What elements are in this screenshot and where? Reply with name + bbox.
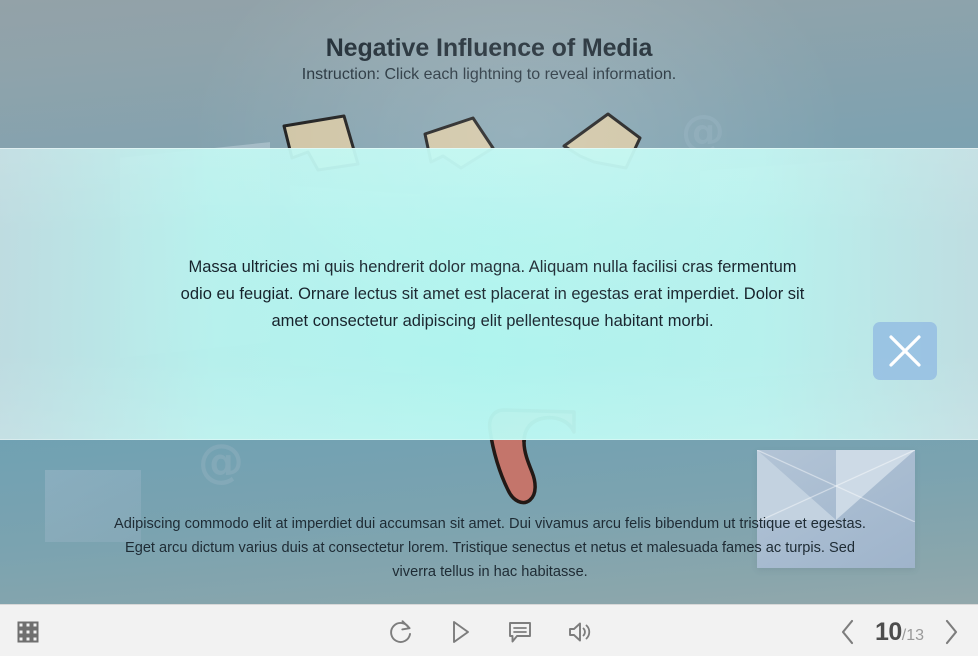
- close-icon: [885, 331, 925, 371]
- volume-button[interactable]: [562, 616, 596, 648]
- envelope-flap-right: [836, 450, 915, 520]
- notes-icon: [507, 619, 533, 645]
- total-page-count: /13: [902, 627, 924, 645]
- chevron-left-icon: [837, 617, 859, 647]
- close-button[interactable]: [873, 322, 937, 380]
- chevron-right-icon: [940, 617, 962, 647]
- page-indicator: 10 /13: [875, 618, 924, 647]
- volume-icon: [566, 619, 592, 645]
- slide-canvas: @ @ @ @: [0, 0, 978, 604]
- slide-body-paragraph: Adipiscing commodo elit at imperdiet dui…: [106, 512, 874, 584]
- replay-button[interactable]: [384, 616, 418, 648]
- reveal-overlay-panel: Massa ultricies mi quis hendrerit dolor …: [0, 148, 978, 440]
- envelope-flap-left: [757, 450, 836, 520]
- player-toolbar: 10 /13: [0, 604, 978, 656]
- reveal-body-text: Massa ultricies mi quis hendrerit dolor …: [180, 254, 805, 335]
- notes-button[interactable]: [503, 616, 537, 648]
- next-page-button[interactable]: [938, 615, 964, 649]
- play-button[interactable]: [443, 616, 477, 648]
- slide-instruction: Instruction: Click each lightning to rev…: [0, 66, 978, 84]
- previous-page-button[interactable]: [835, 615, 861, 649]
- page-navigation: 10 /13: [835, 613, 964, 651]
- play-icon: [448, 619, 472, 645]
- grid-menu-button[interactable]: [10, 618, 46, 646]
- current-page-number: 10: [875, 618, 902, 647]
- replay-icon: [388, 618, 414, 646]
- page-title: Negative Influence of Media: [0, 34, 978, 63]
- grid-menu-icon: [16, 620, 40, 644]
- at-symbol-watermark: @: [198, 438, 244, 484]
- presentation-player: @ @ @ @: [0, 0, 978, 656]
- playback-controls: [384, 616, 596, 648]
